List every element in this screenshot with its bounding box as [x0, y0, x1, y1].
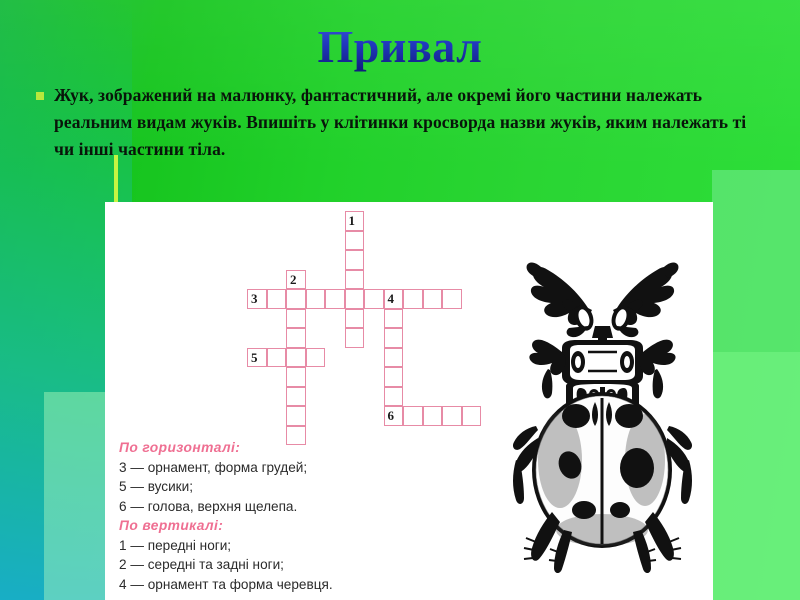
background-right-band-upper	[712, 170, 800, 352]
crossword-cell[interactable]	[364, 289, 384, 309]
crossword-cell[interactable]	[403, 289, 423, 309]
square-bullet-icon	[36, 92, 44, 100]
crossword-grid[interactable]	[105, 202, 535, 452]
crossword-cell[interactable]	[286, 289, 306, 309]
crossword-cell[interactable]	[286, 348, 306, 368]
clue-across-3: 3 — орнамент, форма грудей;	[119, 458, 449, 478]
body-bullet-block: Жук, зображений на малюнку, фантастичний…	[36, 82, 766, 163]
clue-down-2: 2 — середні та задні ноги;	[119, 555, 449, 575]
crossword-cell[interactable]	[442, 289, 462, 309]
crossword-cell[interactable]	[345, 270, 365, 290]
body-text: Жук, зображений на малюнку, фантастичний…	[54, 82, 766, 163]
crossword-cell[interactable]	[384, 309, 404, 329]
crossword-cell[interactable]	[345, 328, 365, 348]
crossword-cell[interactable]	[462, 406, 482, 426]
crossword-cell[interactable]	[345, 231, 365, 251]
clue-across-6: 6 — голова, верхня щелепа.	[119, 497, 449, 517]
crossword-cell[interactable]	[403, 406, 423, 426]
page-title: Привал	[0, 22, 800, 72]
crossword-cell[interactable]	[345, 309, 365, 329]
crossword-cell[interactable]	[423, 289, 443, 309]
crossword-cell[interactable]	[345, 250, 365, 270]
crossword-cell[interactable]	[286, 367, 306, 387]
crossword-cell[interactable]	[423, 406, 443, 426]
crossword-cell[interactable]	[384, 367, 404, 387]
clue-down-4: 4 — орнамент та форма черевця.	[119, 575, 449, 595]
crossword-cell[interactable]	[286, 406, 306, 426]
clue-across-5: 5 — вусики;	[119, 477, 449, 497]
crossword-cell[interactable]	[267, 348, 287, 368]
crossword-cell-6[interactable]	[384, 406, 404, 426]
crossword-cell[interactable]	[286, 309, 306, 329]
crossword-cell[interactable]	[306, 348, 326, 368]
crossword-cell[interactable]	[286, 387, 306, 407]
crossword-cell[interactable]	[306, 289, 326, 309]
crossword-cell[interactable]	[384, 348, 404, 368]
crossword-cell[interactable]	[442, 406, 462, 426]
clue-heading-across: По горизонталі:	[119, 438, 449, 458]
clue-heading-down: По вертикалі:	[119, 516, 449, 536]
crossword-cell[interactable]	[384, 387, 404, 407]
crossword-cell-2[interactable]	[286, 270, 306, 290]
crossword-cell[interactable]	[345, 289, 365, 309]
crossword-cell[interactable]	[286, 328, 306, 348]
crossword-cell-5[interactable]	[247, 348, 267, 368]
background-right-band-lower	[712, 352, 800, 600]
crossword-cell-3[interactable]	[247, 289, 267, 309]
clue-down-1: 1 — передні ноги;	[119, 536, 449, 556]
crossword-cell[interactable]	[384, 328, 404, 348]
clue-list: По горизонталі: 3 — орнамент, форма груд…	[119, 438, 449, 594]
crossword-cell-4[interactable]	[384, 289, 404, 309]
crossword-cell[interactable]	[325, 289, 345, 309]
crossword-cell-1[interactable]	[345, 211, 365, 231]
content-panel: По горизонталі: 3 — орнамент, форма груд…	[105, 202, 713, 600]
crossword-cell[interactable]	[267, 289, 287, 309]
beetle-illustration	[500, 230, 705, 575]
